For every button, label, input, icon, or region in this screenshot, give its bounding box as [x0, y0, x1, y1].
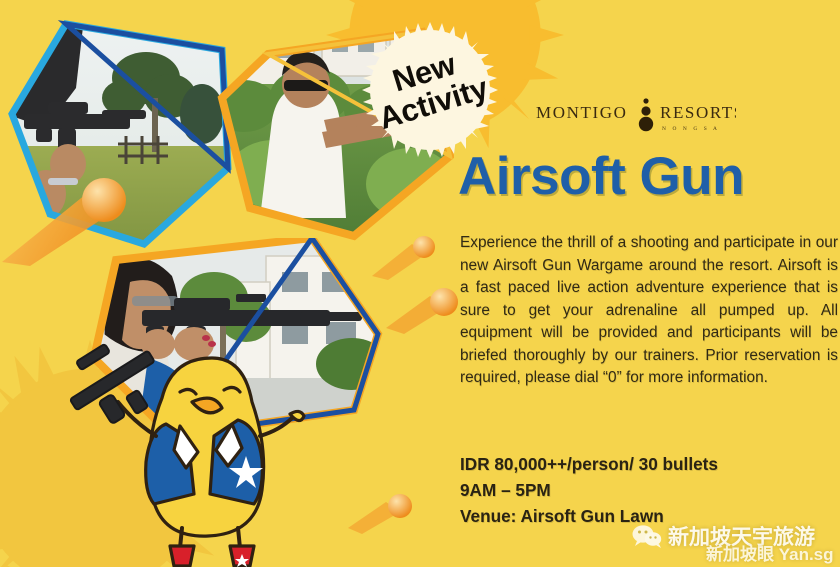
pricing-details: IDR 80,000++/person/ 30 bullets 9AM – 5P… — [460, 452, 838, 529]
logo-word-right: RESORTS — [660, 103, 736, 122]
description-text: Experience the thrill of a shooting and … — [460, 232, 838, 390]
detail-hours: 9AM – 5PM — [460, 478, 838, 504]
logo-dots-icon — [639, 98, 653, 131]
page-title: Airsoft Gun — [458, 150, 840, 203]
wechat-icon — [632, 524, 662, 548]
poster-canvas: New Activity MONTIGO RESORTS N O N G S A… — [0, 0, 840, 567]
montigo-resorts-logo: MONTIGO RESORTS N O N G S A — [536, 92, 736, 138]
logo-word-left: MONTIGO — [536, 103, 627, 122]
bullet-pellet-small-c — [348, 488, 418, 536]
detail-price: IDR 80,000++/person/ 30 bullets — [460, 452, 838, 478]
content-column: MONTIGO RESORTS N O N G S A Airsoft Gun … — [458, 0, 840, 567]
logo-subtext: N O N G S A — [662, 126, 720, 132]
watermark-secondary: 新加坡眼 Yan.sg — [706, 540, 834, 565]
chick-soldier-mascot — [60, 340, 350, 567]
photo-rifle-range — [6, 18, 236, 258]
